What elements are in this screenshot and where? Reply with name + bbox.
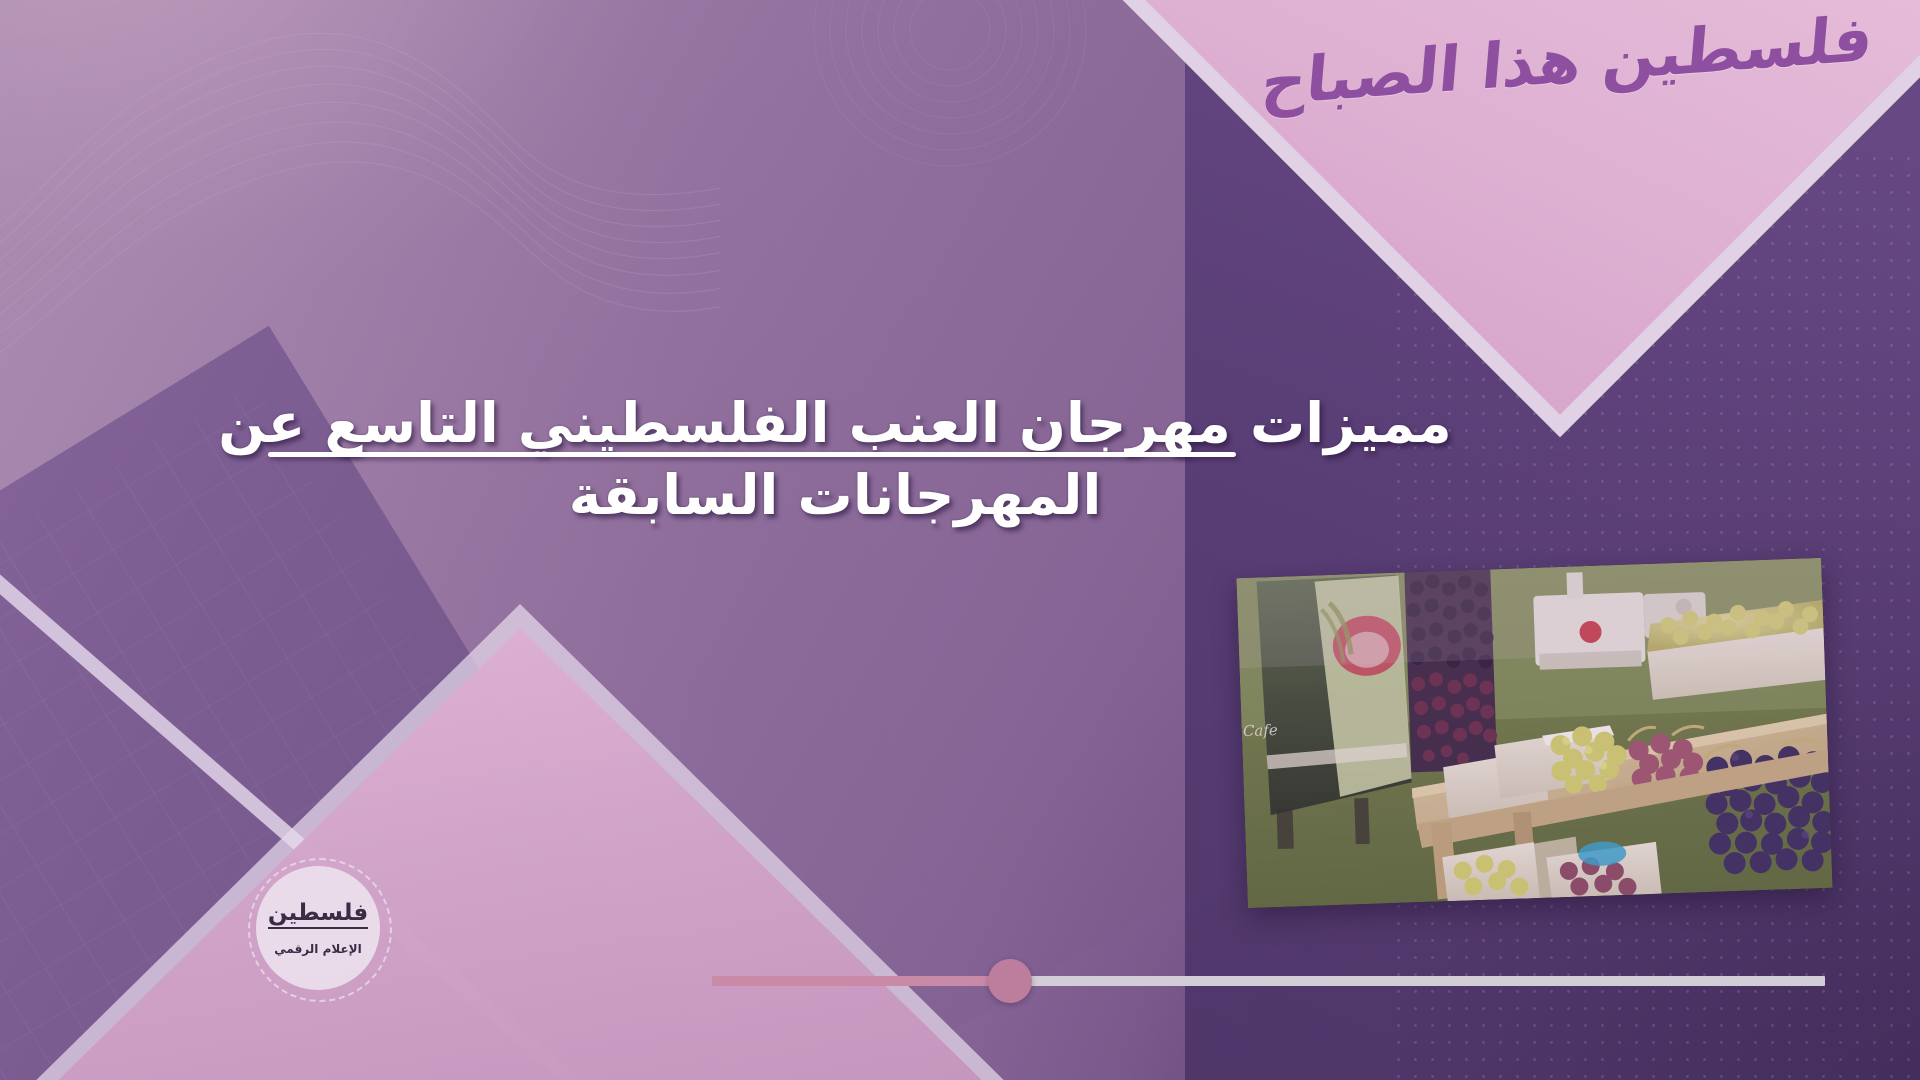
progress-bar[interactable] — [712, 976, 1825, 986]
watermark-name: فلسطين — [256, 900, 380, 929]
watermark-tagline: الإعلام الرقمي — [256, 942, 380, 956]
progress-knob[interactable] — [988, 959, 1032, 1003]
video-thumbnail[interactable]: Rum Cafe — [1236, 558, 1832, 908]
broadcast-slide: فلسطين هذا الصباح مميزات مهرجان العنب ال… — [0, 0, 1920, 1080]
headline-line-2: المهرجانات السابقة — [120, 460, 1550, 532]
progress-fill — [712, 976, 1010, 986]
headline-line-1: مميزات مهرجان العنب الفلسطيني التاسع عن — [120, 388, 1550, 460]
channel-watermark: فلسطين الإعلام الرقمي — [256, 866, 380, 990]
thumbnail-image: Rum Cafe — [1236, 558, 1832, 908]
headline-underline — [268, 452, 1236, 457]
headline: مميزات مهرجان العنب الفلسطيني التاسع عن … — [120, 388, 1550, 531]
